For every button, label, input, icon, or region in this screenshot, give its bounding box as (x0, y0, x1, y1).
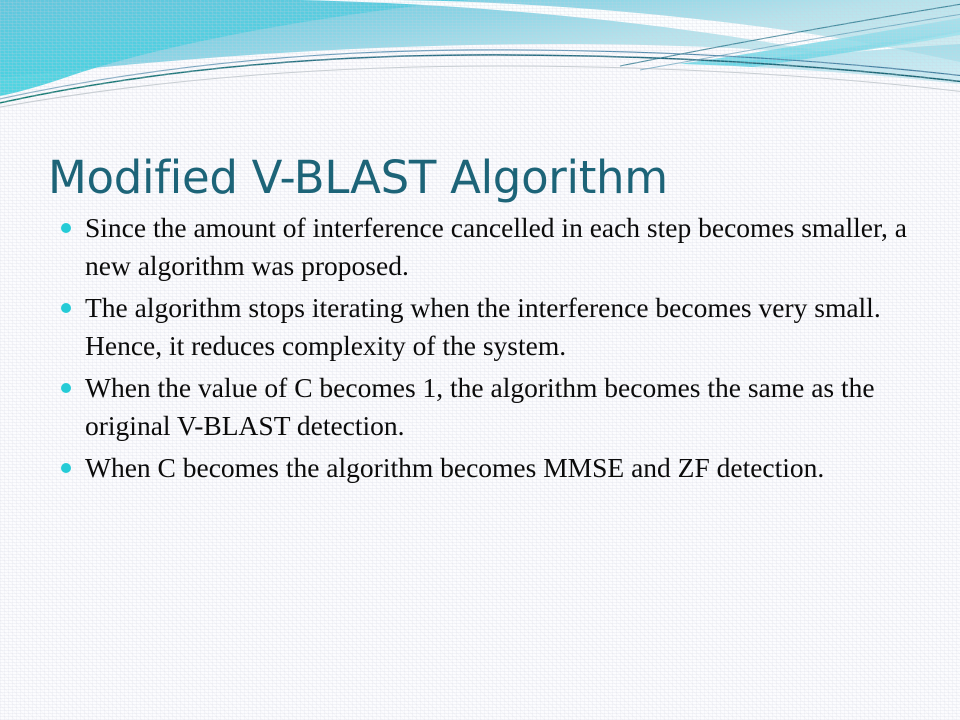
list-item-text: When the value of C becomes 1, the algor… (85, 372, 875, 441)
list-item-text: The algorithm stops iterating when the i… (85, 292, 881, 361)
bullet-dot-icon (61, 223, 71, 233)
bullet-dot-icon (61, 463, 71, 473)
bullet-dot-icon (61, 303, 71, 313)
list-item: The algorithm stops iterating when the i… (52, 289, 908, 365)
list-item: Since the amount of interference cancell… (52, 209, 908, 285)
bullet-dot-icon (61, 383, 71, 393)
list-item: When C becomes the algorithm becomes MMS… (52, 449, 908, 487)
list-item-text: Since the amount of interference cancell… (85, 212, 907, 281)
slide-title: Modified V-BLAST Algorithm (48, 152, 928, 203)
list-item-text: When C becomes the algorithm becomes MMS… (85, 452, 824, 483)
header-wave-banner-graphic (0, 0, 960, 112)
slide-canvas: Modified V-BLAST Algorithm Since the amo… (0, 0, 960, 720)
list-item: When the value of C becomes 1, the algor… (52, 369, 908, 445)
slide-bullet-list: Since the amount of interference cancell… (52, 209, 908, 492)
